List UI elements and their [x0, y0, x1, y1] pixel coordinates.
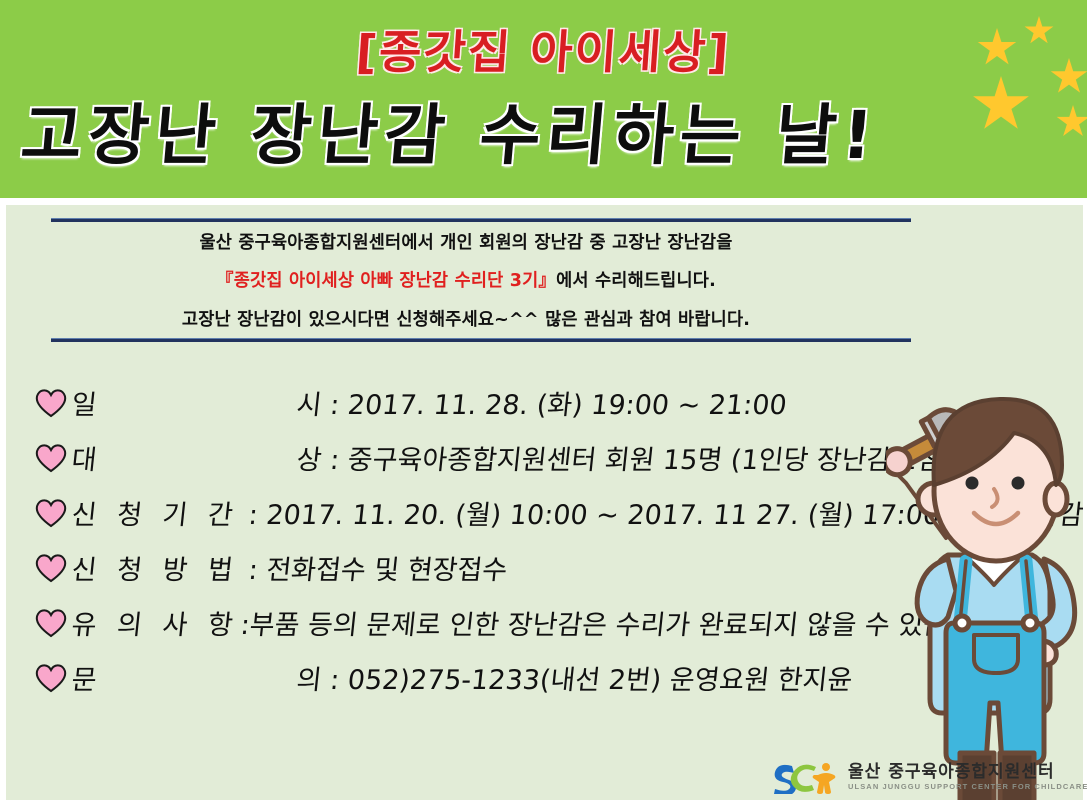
star-icon — [1056, 105, 1087, 139]
info-row-value: 시 : 2017. 11. 28. (화) 19:00 ~ 21:00 — [295, 383, 789, 422]
logo-name-en: ULSAN JUNGGU SUPPORT CENTER FOR CHILDCAR… — [848, 783, 1087, 791]
header-band: [종갓집 아이세상] 고장난 장난감 수리하는 날! — [0, 0, 1087, 198]
program-tag: [종갓집 아이세상] — [0, 16, 1087, 82]
heart-bullet-icon — [34, 388, 68, 418]
info-row-label: 문 — [70, 658, 109, 697]
intro-line-1: 울산 중구육아종합지원센터에서 개인 회원의 장난감 중 고장난 장난감을 — [6, 229, 926, 254]
heart-bullet-icon — [34, 663, 68, 693]
logo-name-ko: 울산 중구육아종합지원센터 — [848, 764, 1087, 781]
heart-bullet-icon — [34, 553, 68, 583]
heart-bullet-icon — [34, 498, 68, 528]
info-row-label: 신 청 기 간 — [70, 493, 241, 532]
divider-top — [51, 218, 911, 222]
intro-bracket-open: 『 — [216, 271, 234, 291]
star-decoration-group — [930, 0, 1087, 198]
body-area: 울산 중구육아종합지원센터에서 개인 회원의 장난감 중 고장난 장난감을 『종… — [0, 205, 1087, 806]
star-icon — [972, 76, 1030, 134]
center-logo-mark — [770, 760, 840, 794]
intro-line-3: 고장난 장난감이 있으시다면 신청해주세요~^^ 많은 관심과 참여 바랍니다. — [6, 306, 926, 331]
info-row-label: 일 — [70, 383, 109, 422]
intro-line-2-tail: 에서 수리해드립니다. — [556, 271, 716, 291]
poster-canvas: [종갓집 아이세상] 고장난 장난감 수리하는 날! 울산 중구육아종합지원센터… — [0, 0, 1087, 806]
heart-bullet-icon — [34, 608, 68, 638]
info-row-value: 의 : 052)275-1233(내선 2번) 운영요원 한지윤 — [295, 658, 855, 697]
divider-bottom — [51, 338, 911, 342]
info-row-value: 상 : 중구육아종합지원센터 회원 15명 (1인당 장난감 1점) — [295, 438, 955, 477]
info-row-label: 신 청 방 법 — [70, 548, 241, 587]
intro-bracket-close: 』 — [538, 271, 556, 291]
repairman-illustration — [886, 323, 1087, 806]
logo-text-block: 울산 중구육아종합지원센터 ULSAN JUNGGU SUPPORT CENTE… — [848, 764, 1087, 791]
star-icon — [1050, 58, 1087, 96]
footer-logo: 울산 중구육아종합지원센터 ULSAN JUNGGU SUPPORT CENTE… — [770, 760, 1087, 794]
info-row-label: 대 — [70, 438, 109, 477]
star-icon — [977, 28, 1017, 68]
star-icon — [1024, 16, 1054, 46]
intro-line-2: 『종갓집 아이세상 아빠 장난감 수리단 3기』에서 수리해드립니다. — [6, 267, 926, 292]
page-title: 고장난 장난감 수리하는 날! — [18, 82, 986, 178]
heart-bullet-icon — [34, 443, 68, 473]
intro-team-name: 종갓집 아이세상 아빠 장난감 수리단 3기 — [234, 271, 539, 291]
info-row-value: : 전화접수 및 현장접수 — [247, 548, 510, 587]
info-row-label: 유 의 사 항 — [70, 603, 241, 642]
